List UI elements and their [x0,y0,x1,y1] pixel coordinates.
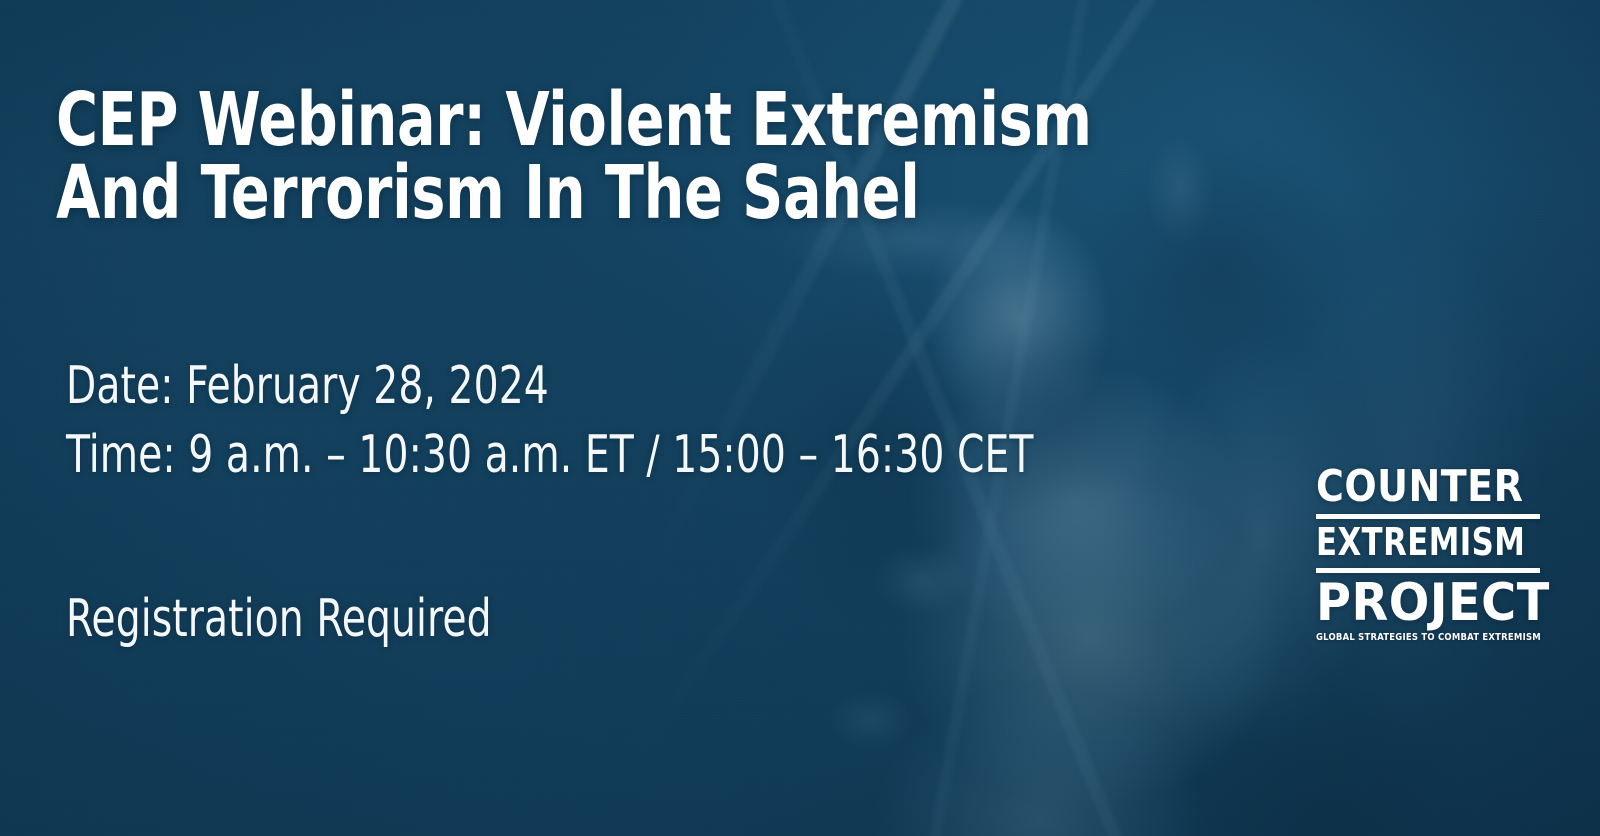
logo-word-project: PROJECT [1316,579,1544,628]
banner-content: CEP Webinar: Violent Extremism And Terro… [0,0,1600,836]
logo-word-extremism: EXTREMISM [1316,525,1518,561]
cep-logo: COUNTER EXTREMISM PROJECT GLOBAL STRATEG… [1316,466,1540,643]
registration-note: Registration Required [66,588,492,650]
logo-tagline: GLOBAL STRATEGIES TO COMBAT EXTREMISM [1316,633,1527,643]
event-date-line: Date: February 28, 2024 [66,352,1034,421]
event-details: Date: February 28, 2024 Time: 9 a.m. – 1… [66,352,1034,489]
event-time-line: Time: 9 a.m. – 10:30 a.m. ET / 15:00 – 1… [66,421,1034,490]
webinar-promo-banner: CEP Webinar: Violent Extremism And Terro… [0,0,1600,836]
logo-word-counter: COUNTER [1316,466,1531,507]
banner-title: CEP Webinar: Violent Extremism And Terro… [56,84,1174,231]
logo-divider-rule-top [1316,514,1540,519]
